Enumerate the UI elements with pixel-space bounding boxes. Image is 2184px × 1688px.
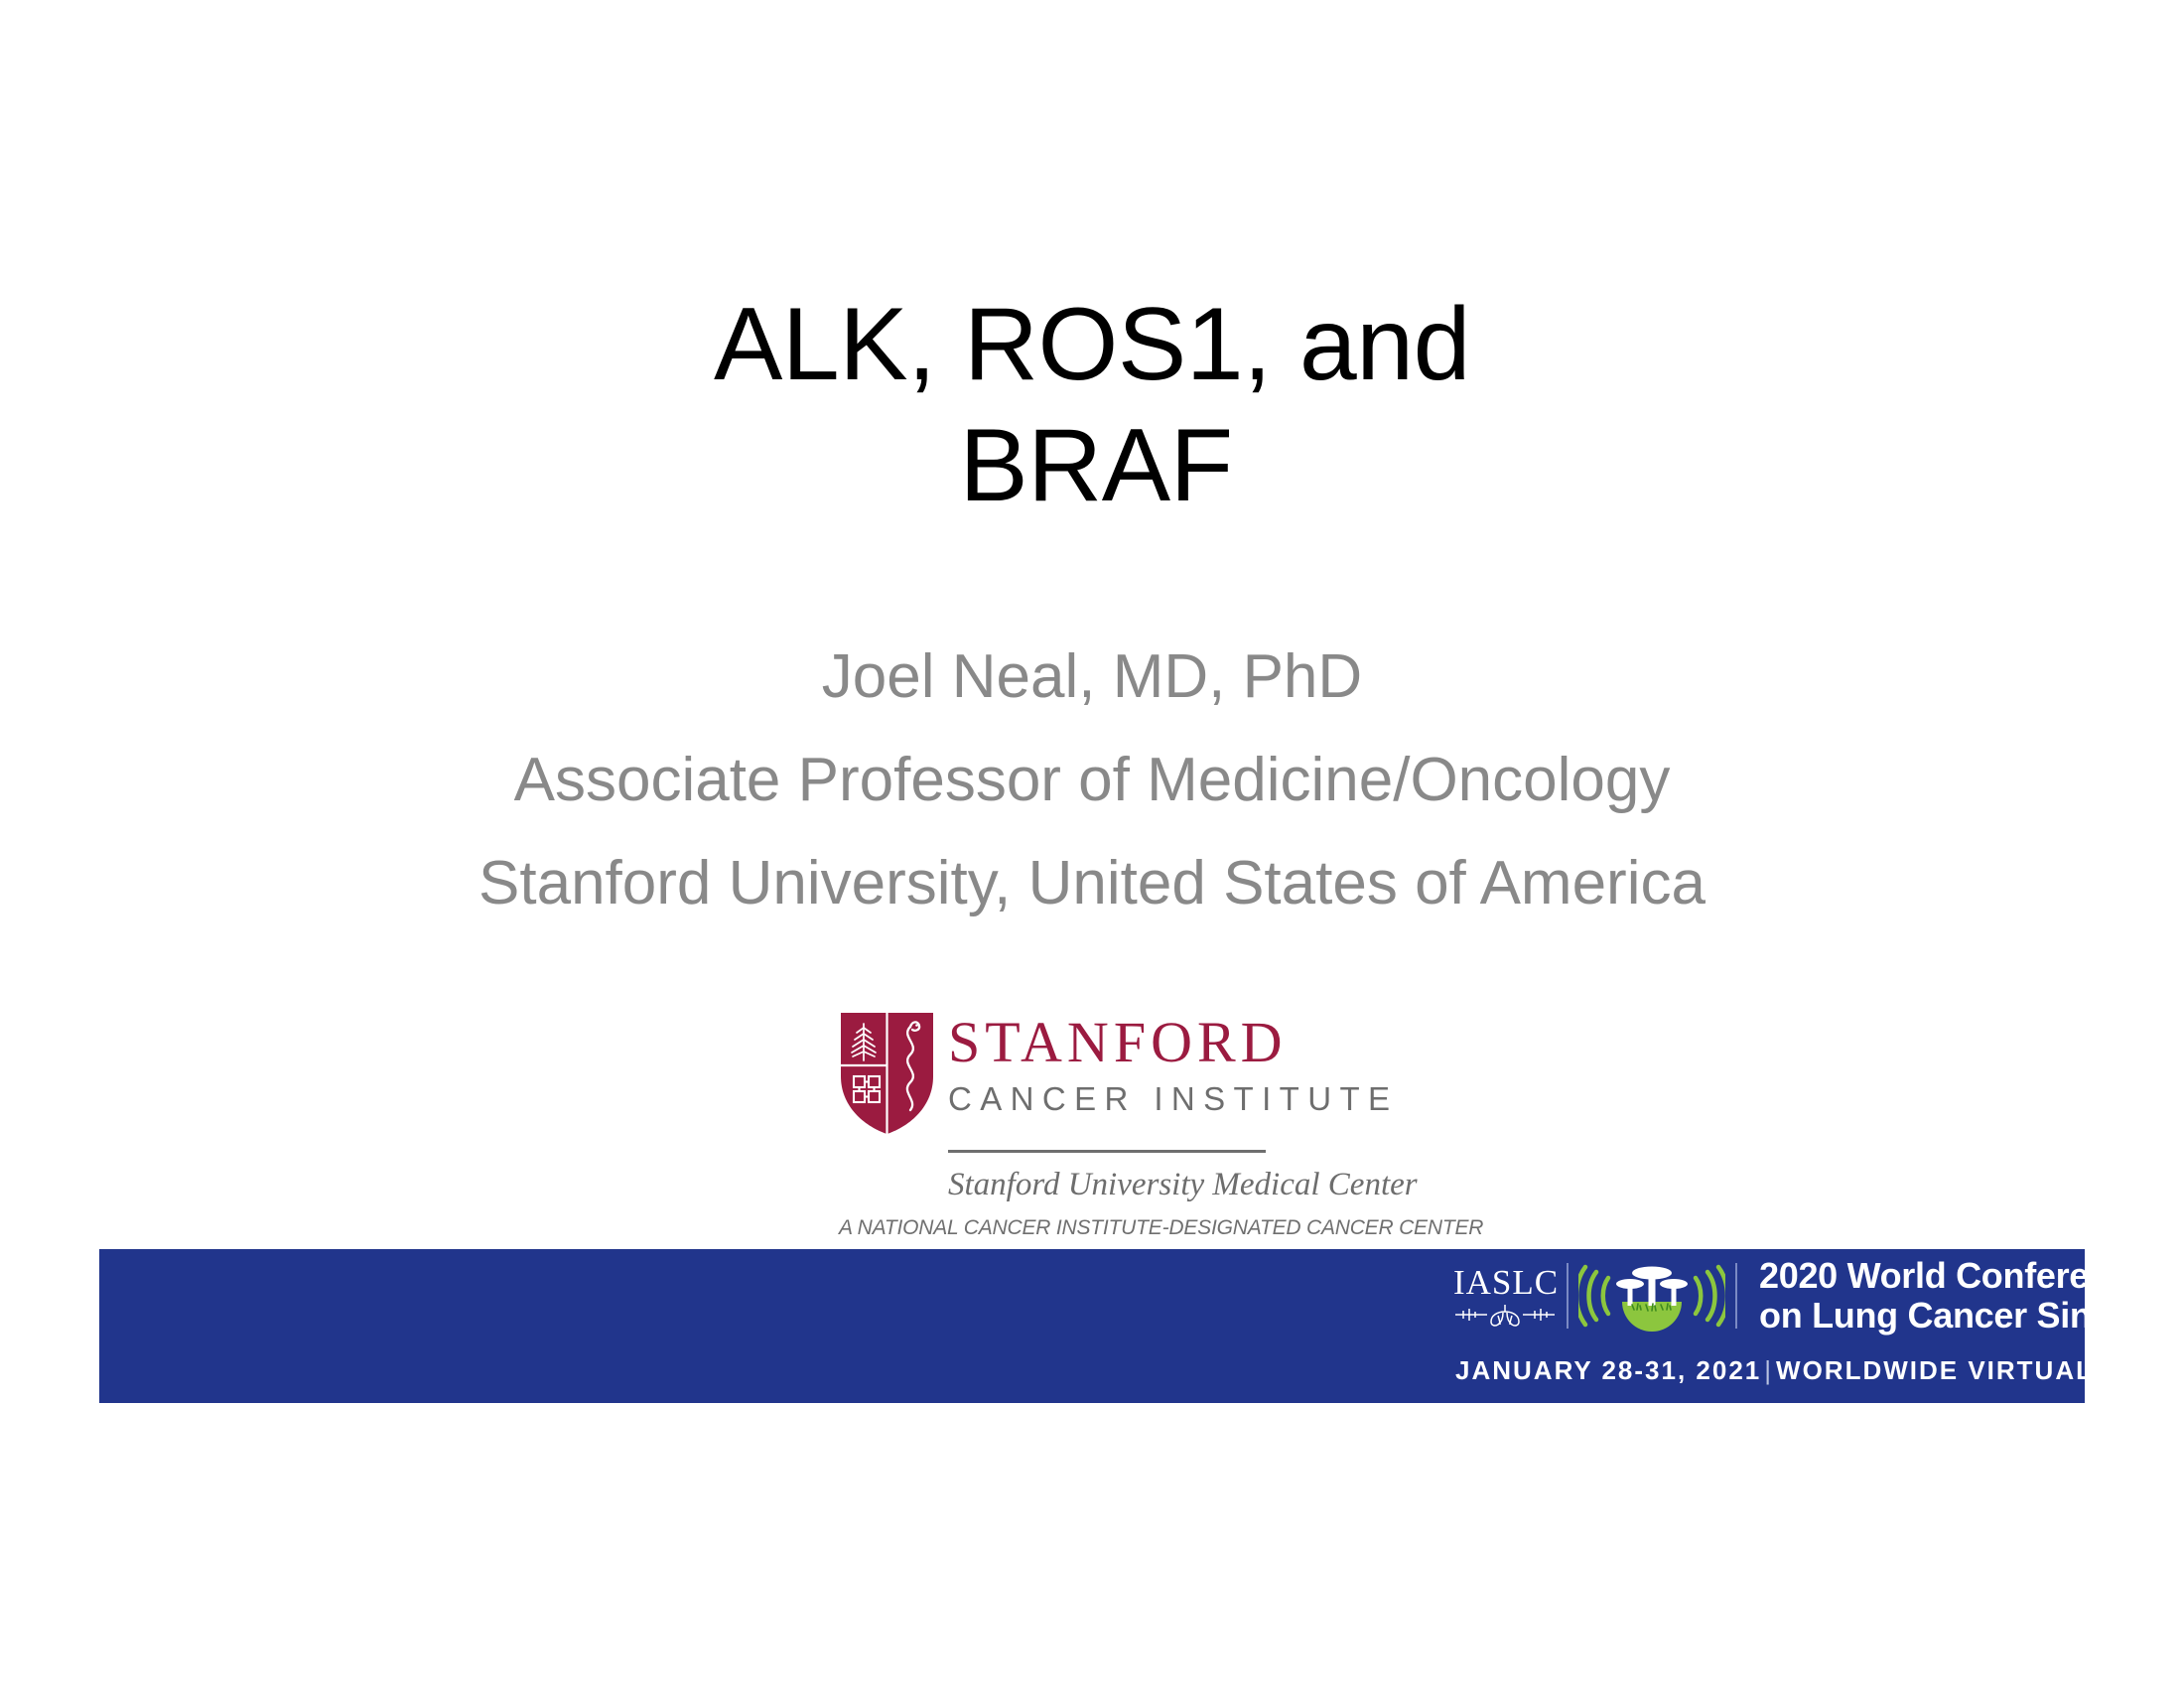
conference-dates-row: JANUARY 28-31, 2021|WORLDWIDE VIRTUAL EV… [1447, 1335, 2083, 1387]
conference-name-line-2: on Lung Cancer Singapore [1759, 1296, 2184, 1336]
banner-divider-left [1567, 1263, 1569, 1329]
logo-top-row: STANFORD CANCER INSTITUTE [839, 1011, 1375, 1136]
conference-banner-logo-row: IASLC [1447, 1257, 2083, 1335]
presentation-title-slide: ALK, ROS1, and BRAF Joel Neal, MD, PhD A… [0, 0, 2184, 1688]
iaslc-logo: IASLC [1453, 1265, 1557, 1328]
page-title: ALK, ROS1, and BRAF [0, 284, 2184, 526]
logo-wordmark-group: STANFORD CANCER INSTITUTE [948, 1011, 1398, 1122]
lungs-icon [1453, 1302, 1557, 1328]
cancer-institute-wordmark: CANCER INSTITUTE [948, 1072, 1398, 1122]
stanford-shield-icon [839, 1011, 935, 1136]
stanford-cancer-institute-logo: STANFORD CANCER INSTITUTE Stanford Unive… [839, 1011, 1375, 1241]
conference-event-type: WORLDWIDE VIRTUAL EVENT [1776, 1355, 2184, 1385]
stanford-wordmark: STANFORD [948, 1013, 1398, 1072]
title-line-1: ALK, ROS1, and [0, 284, 2184, 405]
iaslc-abbrev: IASLC [1453, 1265, 1557, 1301]
supertree-soundwave-icon [1578, 1260, 1725, 1332]
banner-divider-right [1735, 1263, 1737, 1329]
presenter-title: Associate Professor of Medicine/Oncology [0, 729, 2184, 832]
presenter-byline: Joel Neal, MD, PhD Associate Professor o… [0, 626, 2184, 935]
presenter-affiliation: Stanford University, United States of Am… [0, 832, 2184, 935]
conference-name-line-1: 2020 World Conference [1759, 1256, 2184, 1296]
conference-banner: IASLC [99, 1249, 2085, 1403]
conference-banner-content: IASLC [1447, 1257, 2083, 1387]
conference-dates: JANUARY 28-31, 2021 [1455, 1355, 1761, 1385]
title-line-2: BRAF [0, 405, 2184, 526]
presenter-name: Joel Neal, MD, PhD [0, 626, 2184, 729]
logo-nci-designation: A NATIONAL CANCER INSTITUTE-DESIGNATED C… [839, 1206, 1375, 1241]
conference-name: 2020 World Conference on Lung Cancer Sin… [1747, 1256, 2184, 1336]
conference-separator: | [1761, 1353, 1776, 1387]
logo-tagline: Stanford University Medical Center [948, 1153, 1266, 1206]
